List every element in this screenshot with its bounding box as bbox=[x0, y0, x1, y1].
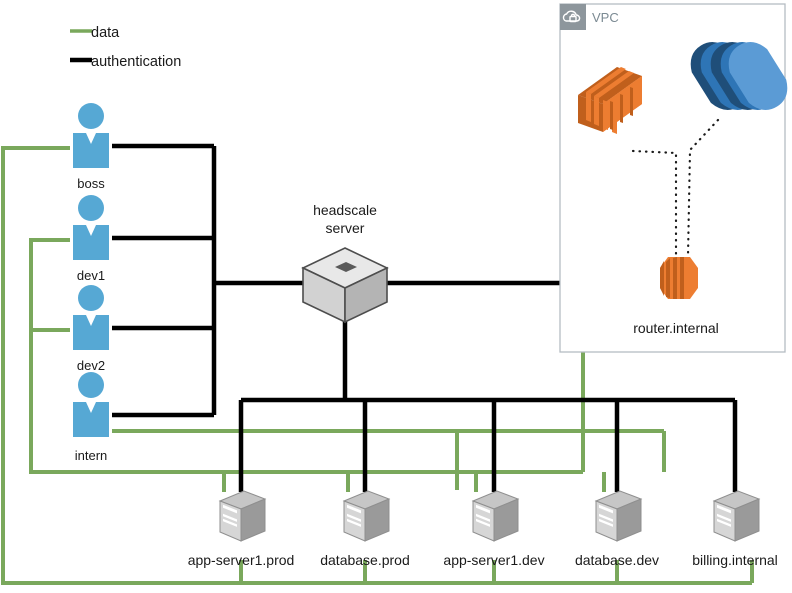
router-icon bbox=[660, 257, 698, 299]
server-icon bbox=[596, 491, 641, 541]
node-headscale-server[interactable]: headscale server bbox=[303, 202, 387, 322]
server-icon bbox=[473, 491, 518, 541]
users-group: boss dev1 dev2 intern bbox=[73, 103, 109, 463]
user-label-dev1: dev1 bbox=[77, 268, 105, 283]
headscale-label-line2: server bbox=[326, 220, 365, 236]
legend-label-data: data bbox=[91, 25, 120, 41]
vpc-container: VPC bbox=[560, 4, 792, 352]
legend-item-data: data bbox=[70, 25, 120, 41]
server-label-app-server1-prod: app-server1.prod bbox=[188, 552, 295, 568]
data-link-dev2 bbox=[31, 330, 70, 472]
user-icon bbox=[73, 372, 109, 437]
vpc-title: VPC bbox=[592, 10, 619, 25]
user-dev1[interactable]: dev1 bbox=[73, 195, 109, 283]
user-dev2[interactable]: dev2 bbox=[73, 285, 109, 373]
user-boss[interactable]: boss bbox=[73, 103, 109, 191]
user-label-boss: boss bbox=[77, 176, 105, 191]
server-label-app-server1-dev: app-server1.dev bbox=[443, 552, 544, 568]
router-label: router.internal bbox=[633, 320, 719, 336]
user-icon bbox=[73, 195, 109, 260]
user-icon bbox=[73, 103, 109, 168]
legend: data authentication bbox=[70, 25, 181, 70]
legend-item-authentication: authentication bbox=[70, 54, 181, 70]
cube-icon bbox=[303, 248, 387, 322]
user-icon bbox=[73, 285, 109, 350]
node-app-server1-dev[interactable]: app-server1.dev bbox=[443, 491, 544, 568]
servers-group: app-server1.prod database.prod app-serve… bbox=[188, 491, 778, 568]
diagram-canvas: data authentication bbox=[0, 0, 792, 593]
server-label-billing-internal: billing.internal bbox=[692, 552, 778, 568]
server-label-database-dev: database.dev bbox=[575, 552, 659, 568]
network-diagram: data authentication bbox=[0, 0, 792, 593]
node-billing-internal[interactable]: billing.internal bbox=[692, 491, 778, 568]
server-icon bbox=[220, 491, 265, 541]
node-app-server1-prod[interactable]: app-server1.prod bbox=[188, 491, 295, 568]
user-label-intern: intern bbox=[75, 448, 108, 463]
user-intern[interactable]: intern bbox=[73, 372, 109, 463]
legend-label-authentication: authentication bbox=[91, 54, 181, 70]
server-label-database-prod: database.prod bbox=[320, 552, 410, 568]
user-label-dev2: dev2 bbox=[77, 358, 105, 373]
node-database-prod[interactable]: database.prod bbox=[320, 491, 410, 568]
headscale-label-line1: headscale bbox=[313, 202, 377, 218]
server-icon bbox=[714, 491, 759, 541]
node-database-dev[interactable]: database.dev bbox=[575, 491, 659, 568]
server-icon bbox=[344, 491, 389, 541]
